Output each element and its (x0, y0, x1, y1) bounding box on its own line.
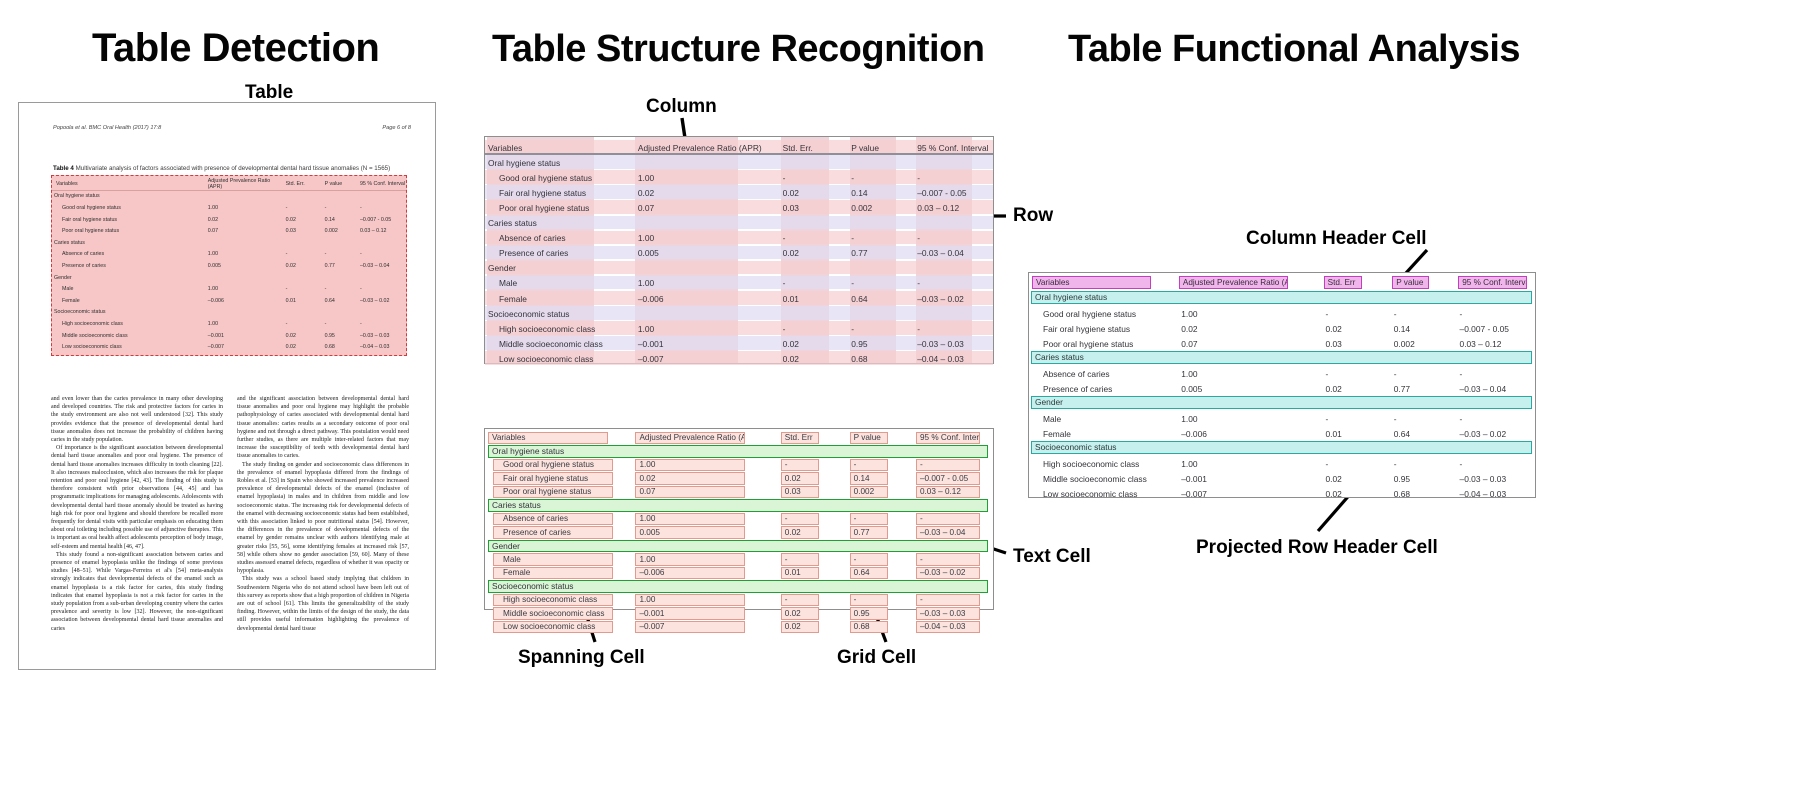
data-cell: –0.03 – 0.03 (914, 339, 993, 349)
table-row: Low socioeconomic class–0.0070.020.68–0.… (485, 351, 993, 366)
data-cell: –0.006 (208, 298, 286, 304)
data-cell: - (325, 205, 360, 211)
table-row: Poor oral hygiene status0.070.030.0020.0… (52, 225, 406, 237)
body-paragraph: The study finding on gender and socioeco… (237, 461, 409, 576)
table-caption: Table 4 Multivariate analysis of factors… (53, 165, 413, 172)
column-header-cell: 95 % Conf. Interval (916, 432, 980, 445)
row-label-cell: Middle socioeconomic class (485, 339, 635, 349)
data-cell: 0.64 (1391, 429, 1457, 439)
row-label-cell: Absence of caries (52, 251, 208, 257)
data-cell: 0.02 (1178, 324, 1322, 334)
grid-cell: - (916, 594, 980, 607)
data-cell: 0.64 (848, 294, 914, 304)
row-label-cell: Male (52, 286, 208, 292)
data-cell: –0.03 – 0.04 (1457, 384, 1535, 394)
column-header-cell: Adjusted Prevalence Ratio (APR) (208, 178, 286, 190)
data-cell: –0.04 – 0.03 (360, 344, 406, 350)
grid-cell: 0.02 (781, 526, 819, 539)
spanning-cell: Socioeconomic status (488, 580, 988, 593)
data-cell: 1.00 (635, 324, 780, 334)
table-row: High socioeconomic class1.00--- (52, 318, 406, 330)
data-cell: 1.00 (1178, 414, 1322, 424)
table-row: Middle socioeconomic class–0.0010.020.95… (1029, 471, 1535, 486)
table-row: Absence of caries1.00--- (1029, 366, 1535, 381)
data-cell: - (1322, 309, 1390, 319)
data-cell: 0.03 – 0.12 (1457, 339, 1535, 349)
running-head-right: Page 6 of 8 (382, 125, 411, 131)
row-label-cell: Middle socioeconomic class (52, 333, 208, 339)
table-row: Absence of caries1.00--- (52, 249, 406, 261)
data-cell: - (780, 278, 849, 288)
projected-row-header-cell: Socioeconomic status (1031, 441, 1532, 454)
table-row: Gender (52, 272, 406, 284)
data-cell: 1.00 (1178, 369, 1322, 379)
grid-cell: 1.00 (635, 594, 745, 607)
row-header-cell: Socioeconomic status (485, 309, 635, 319)
data-cell: - (1391, 459, 1457, 469)
table-row: Good oral hygiene status1.00--- (52, 202, 406, 214)
grid-cell: Low socioeconomic class (493, 621, 613, 634)
table-row: VariablesAdjusted Prevalence Ratio (APR)… (52, 178, 406, 191)
grid-cell: 0.64 (850, 567, 888, 580)
data-cell: 0.14 (325, 217, 360, 223)
row-label-cell: High socioeconomic class (52, 321, 208, 327)
data-cell: - (1457, 414, 1535, 424)
data-cell: 1.00 (1178, 309, 1322, 319)
data-cell: –0.006 (635, 294, 780, 304)
column-header-cell: Std. Err. (286, 181, 325, 187)
data-cell: 0.01 (780, 294, 849, 304)
projected-row-header-cell: Gender (1031, 396, 1532, 409)
data-cell: 1.00 (635, 173, 780, 183)
data-cell: –0.03 – 0.04 (914, 248, 993, 258)
data-cell: - (360, 321, 406, 327)
data-cell: 0.07 (208, 228, 286, 234)
row-label-cell: Gender (52, 275, 208, 281)
data-cell: 0.005 (1178, 384, 1322, 394)
data-cell: –0.006 (1178, 429, 1322, 439)
table-structure-cells: VariablesAdjusted Prevalence Ratio (APRS… (484, 428, 994, 610)
data-cell: - (1391, 369, 1457, 379)
grid-cell: 1.00 (635, 459, 745, 472)
row-label-cell: Low socioeconomic class (52, 344, 208, 350)
table-functional-analysis: VariablesAdjusted Prevalence Ratio (APRS… (1028, 272, 1536, 498)
projected-row-header-cell: Caries status (1031, 351, 1532, 364)
table-row: Male1.00--- (485, 276, 993, 291)
row-label-cell: Poor oral hygiene status (1029, 339, 1178, 349)
grid-cell: Male (493, 553, 613, 566)
data-cell: - (1322, 459, 1390, 469)
data-cell: –0.007 (208, 344, 286, 350)
table-row: Female–0.0060.010.64–0.03 – 0.02 (1029, 426, 1535, 441)
data-cell: –0.007 - 0.05 (360, 217, 406, 223)
column-header-cell: P value (1392, 276, 1429, 289)
grid-cell: Good oral hygiene status (493, 459, 613, 472)
grid-cell: High socioeconomic class (493, 594, 613, 607)
row-label-cell: Female (485, 294, 635, 304)
data-cell: - (780, 233, 849, 243)
row-label-cell: Low socioeconomic class (485, 354, 635, 364)
data-cell: - (286, 205, 325, 211)
row-header-cell: Caries status (485, 218, 635, 228)
data-cell: –0.03 – 0.04 (360, 263, 406, 269)
grid-cell: Female (493, 567, 613, 580)
data-cell: 0.01 (286, 298, 325, 304)
data-cell: - (914, 233, 993, 243)
table-caption-text: Multivariate analysis of factors associa… (76, 165, 391, 172)
table-row: Poor oral hygiene status0.070.030.0020.0… (485, 200, 993, 215)
table-row: Oral hygiene status (485, 155, 993, 170)
grid-cell: 0.02 (781, 472, 819, 485)
data-cell: 0.02 (1322, 489, 1390, 499)
column-header-cell: Variables (485, 143, 635, 153)
spanning-cell: Gender (488, 540, 988, 553)
grid-cell: –0.007 - 0.05 (916, 472, 980, 485)
column-header-cell: Std. Err (1324, 276, 1362, 289)
callout-text-cell: Text Cell (1013, 546, 1091, 568)
document-page: Popoola et al. BMC Oral Health (2017) 17… (18, 102, 436, 670)
data-cell: - (360, 286, 406, 292)
grid-cell: 0.02 (781, 607, 819, 620)
column-header-cell: Std. Err. (780, 143, 849, 153)
body-paragraph: This study found a non-significant assoc… (51, 551, 223, 633)
panel-title-table-detection: Table Detection (92, 26, 379, 71)
row-label-cell: High socioeconomic class (1029, 459, 1178, 469)
body-paragraph: and the significant association between … (237, 395, 409, 461)
data-cell: - (1457, 459, 1535, 469)
data-cell: –0.007 - 0.05 (1457, 324, 1535, 334)
data-cell: 0.02 (286, 263, 325, 269)
data-cell: –0.007 - 0.05 (914, 188, 993, 198)
data-cell: 0.02 (1322, 384, 1390, 394)
grid-cell: - (850, 459, 888, 472)
grid-cell: 0.03 (781, 486, 819, 499)
data-cell: 0.68 (325, 344, 360, 350)
grid-cell: 0.07 (635, 486, 745, 499)
data-cell: 0.03 (1322, 339, 1390, 349)
table-row: Presence of caries0.0050.020.77–0.03 – 0… (485, 246, 993, 261)
header-rule (485, 153, 993, 154)
grid-cell: –0.007 (635, 621, 745, 634)
data-cell: 0.02 (1322, 324, 1390, 334)
row-label-cell: Presence of caries (52, 263, 208, 269)
grid-cell: 0.95 (850, 607, 888, 620)
table-row: Fair oral hygiene status0.020.020.14–0.0… (485, 185, 993, 200)
callout-column-header-cell: Column Header Cell (1246, 228, 1427, 250)
data-cell: - (1457, 369, 1535, 379)
table-row: Fair oral hygiene status0.020.020.14–0.0… (1029, 321, 1535, 336)
data-cell: 1.00 (208, 321, 286, 327)
data-cell: - (914, 278, 993, 288)
row-label-cell: Fair oral hygiene status (1029, 324, 1178, 334)
column-header-cell: Adjusted Prevalence Ratio (APR (635, 432, 745, 445)
grid-cell: - (781, 594, 819, 607)
data-cell: - (848, 173, 914, 183)
data-cell: - (325, 251, 360, 257)
data-cell: 0.02 (780, 339, 849, 349)
data-cell: - (325, 321, 360, 327)
data-cell: 0.02 (1322, 474, 1390, 484)
grid-cell: 0.005 (635, 526, 745, 539)
data-cell: - (325, 286, 360, 292)
grid-cell: Poor oral hygiene status (493, 486, 613, 499)
table-row: Caries status (52, 237, 406, 249)
data-cell: 0.95 (325, 333, 360, 339)
data-cell: 0.005 (208, 263, 286, 269)
table-row: Poor oral hygiene status0.070.030.0020.0… (1029, 336, 1535, 351)
grid-cell: Middle socioeconomic class (493, 607, 613, 620)
data-cell: 0.03 (286, 228, 325, 234)
table-row: Socioeconomic status (485, 306, 993, 321)
spanning-cell: Oral hygiene status (488, 445, 988, 458)
document-running-head: Popoola et al. BMC Oral Health (2017) 17… (53, 125, 411, 131)
data-cell: - (914, 173, 993, 183)
data-cell: 0.95 (848, 339, 914, 349)
grid-cell: - (781, 513, 819, 526)
data-cell: –0.03 – 0.02 (1457, 429, 1535, 439)
data-cell: - (286, 286, 325, 292)
data-cell: - (1391, 309, 1457, 319)
row-label-cell: Caries status (52, 240, 208, 246)
data-cell: 1.00 (208, 205, 286, 211)
grid-cell: –0.03 – 0.03 (916, 607, 980, 620)
data-cell: 0.002 (1391, 339, 1457, 349)
data-cell: - (286, 251, 325, 257)
grid-cell: Presence of caries (493, 526, 613, 539)
data-cell: 0.02 (286, 217, 325, 223)
row-label-cell: Oral hygiene status (52, 193, 208, 199)
data-cell: - (914, 324, 993, 334)
grid-cell: 0.01 (781, 567, 819, 580)
column-header-cell: P value (325, 181, 360, 187)
table-row: Absence of caries1.00--- (485, 231, 993, 246)
grid-cell: - (850, 513, 888, 526)
row-label-cell: Good oral hygiene status (1029, 309, 1178, 319)
callout-projected-row-header-cell: Projected Row Header Cell (1196, 537, 1438, 559)
grid-cell: –0.001 (635, 607, 745, 620)
data-cell: 0.002 (848, 203, 914, 213)
panel-title-table-functional-analysis: Table Functional Analysis (1068, 28, 1520, 71)
data-cell: 0.02 (286, 333, 325, 339)
row-label-cell: Fair oral hygiene status (52, 217, 208, 223)
row-label-cell: Socioeconomic status (52, 309, 208, 315)
data-cell: 0.95 (1391, 474, 1457, 484)
grid-cell: –0.04 – 0.03 (916, 621, 980, 634)
grid-cell: –0.03 – 0.02 (916, 567, 980, 580)
data-cell: 0.002 (325, 228, 360, 234)
grid-cell: - (916, 513, 980, 526)
data-cell: 1.00 (208, 251, 286, 257)
grid-cell: - (916, 459, 980, 472)
row-label-cell: Presence of caries (1029, 384, 1178, 394)
row-label-cell: Poor oral hygiene status (52, 228, 208, 234)
column-header-cell: Variables (488, 432, 608, 445)
data-cell: –0.03 – 0.03 (1457, 474, 1535, 484)
data-cell: - (1322, 414, 1390, 424)
grid-cell: 1.00 (635, 513, 745, 526)
data-cell: - (1322, 369, 1390, 379)
row-header-cell: Gender (485, 263, 635, 273)
body-paragraph: and even lower than the caries prevalenc… (51, 395, 223, 444)
callout-spanning-cell: Spanning Cell (518, 647, 645, 669)
grid-cell: 0.02 (781, 621, 819, 634)
spanning-cell: Caries status (488, 499, 988, 512)
data-cell: 0.77 (1391, 384, 1457, 394)
table-caption-label: Table 4 (53, 165, 74, 172)
grid-cell: 1.00 (635, 553, 745, 566)
table-row: Middle socioeconomic class–0.0010.020.95… (485, 336, 993, 351)
row-label-cell: Female (1029, 429, 1178, 439)
data-cell: 0.03 (780, 203, 849, 213)
row-label-cell: Male (1029, 414, 1178, 424)
data-cell: 0.07 (635, 203, 780, 213)
row-label-cell: Middle socioeconomic class (1029, 474, 1178, 484)
document-column-left: and even lower than the caries prevalenc… (51, 395, 223, 633)
running-head-left: Popoola et al. BMC Oral Health (2017) 17… (53, 125, 161, 131)
row-label-cell: Good oral hygiene status (52, 205, 208, 211)
row-header-cell: Oral hygiene status (485, 158, 635, 168)
callout-column: Column (646, 96, 717, 118)
column-header-cell: Adjusted Prevalence Ratio (APR (1179, 276, 1288, 289)
detected-table-region: VariablesAdjusted Prevalence Ratio (APR)… (51, 175, 407, 356)
row-label-cell: Presence of caries (485, 248, 635, 258)
data-cell: - (360, 251, 406, 257)
row-label-cell: Absence of caries (1029, 369, 1178, 379)
data-cell: 0.02 (780, 354, 849, 364)
data-cell: - (286, 321, 325, 327)
grid-cell: - (850, 553, 888, 566)
column-header-cell: 95 % Conf. Interval (1458, 276, 1527, 289)
row-label-cell: Good oral hygiene status (485, 173, 635, 183)
table-row: Female–0.0060.010.64–0.03 – 0.02 (52, 295, 406, 307)
projected-row-header-cell: Oral hygiene status (1031, 291, 1532, 304)
data-cell: 0.68 (1391, 489, 1457, 499)
data-cell: 0.01 (1322, 429, 1390, 439)
column-header-cell: 95 % Conf. Interval (914, 143, 993, 153)
table-row: Male1.00--- (52, 283, 406, 295)
document-column-right: and the significant association between … (237, 395, 409, 633)
row-label-cell: Fair oral hygiene status (485, 188, 635, 198)
data-cell: –0.04 – 0.03 (914, 354, 993, 364)
data-cell: 1.00 (208, 286, 286, 292)
grid-cell: 0.002 (850, 486, 888, 499)
table-row: Presence of caries0.0050.020.77–0.03 – 0… (52, 260, 406, 272)
column-header-cell: P value (848, 143, 914, 153)
column-header-cell: Variables (52, 181, 208, 187)
panel-title-table-structure-recognition: Table Structure Recognition (492, 28, 985, 71)
callout-grid-cell: Grid Cell (837, 647, 916, 669)
row-label-cell: High socioeconomic class (485, 324, 635, 334)
grid-cell: 0.14 (850, 472, 888, 485)
data-cell: –0.03 – 0.03 (360, 333, 406, 339)
data-cell: 0.14 (1391, 324, 1457, 334)
data-cell: - (1457, 309, 1535, 319)
table-row: Socioeconomic status (52, 307, 406, 319)
grid-cell: Fair oral hygiene status (493, 472, 613, 485)
data-cell: –0.03 – 0.02 (360, 298, 406, 304)
column-header-cell: 95 % Conf. Interval (360, 181, 406, 187)
data-cell: –0.007 (1178, 489, 1322, 499)
data-cell: 0.03 – 0.12 (360, 228, 406, 234)
table-row: Female–0.0060.010.64–0.03 – 0.02 (485, 291, 993, 306)
callout-table: Table (245, 82, 293, 104)
data-cell: 1.00 (1178, 459, 1322, 469)
data-cell: - (848, 324, 914, 334)
table-row: Good oral hygiene status1.00--- (1029, 306, 1535, 321)
table-row: Presence of caries0.0050.020.77–0.03 – 0… (1029, 381, 1535, 396)
data-cell: - (780, 173, 849, 183)
data-cell: 0.64 (325, 298, 360, 304)
table-row: Low socioeconomic class–0.0070.020.68–0.… (1029, 486, 1535, 501)
table-row: Good oral hygiene status1.00--- (485, 170, 993, 185)
data-cell: –0.007 (635, 354, 780, 364)
data-cell: –0.001 (208, 333, 286, 339)
data-cell: 0.02 (286, 344, 325, 350)
grid-cell: 0.03 – 0.12 (916, 486, 980, 499)
table-row: Oral hygiene status (52, 191, 406, 203)
data-cell: –0.001 (1178, 474, 1322, 484)
row-label-cell: Low socioeconomic class (1029, 489, 1178, 499)
grid-cell: –0.006 (635, 567, 745, 580)
grid-cell: 0.02 (635, 472, 745, 485)
document-body-text: and even lower than the caries prevalenc… (51, 395, 409, 633)
grid-cell: - (916, 553, 980, 566)
data-cell: 0.77 (848, 248, 914, 258)
table-row: High socioeconomic class1.00--- (1029, 456, 1535, 471)
row-label-cell: Absence of caries (485, 233, 635, 243)
data-cell: 0.14 (848, 188, 914, 198)
data-cell: 1.00 (635, 278, 780, 288)
grid-cell: - (781, 553, 819, 566)
data-cell: 0.02 (635, 188, 780, 198)
table-row: Fair oral hygiene status0.020.020.14–0.0… (52, 214, 406, 226)
data-cell: –0.03 – 0.02 (914, 294, 993, 304)
table-row: Low socioeconomic class–0.0070.020.68–0.… (52, 341, 406, 353)
table-row: Male1.00--- (1029, 411, 1535, 426)
data-cell: 0.02 (208, 217, 286, 223)
data-cell: –0.001 (635, 339, 780, 349)
data-cell: 0.03 – 0.12 (914, 203, 993, 213)
table-row: Caries status (485, 216, 993, 231)
data-cell: 0.77 (325, 263, 360, 269)
data-cell: - (848, 233, 914, 243)
table-structure-rows-columns: VariablesAdjusted Prevalence Ratio (APR)… (484, 136, 994, 364)
table-row: Middle socioeconomic class–0.0010.020.95… (52, 330, 406, 342)
table-row: Gender (485, 261, 993, 276)
row-label-cell: Poor oral hygiene status (485, 203, 635, 213)
data-cell: - (360, 205, 406, 211)
column-header-cell: P value (850, 432, 888, 445)
body-paragraph: This study was a school based study impl… (237, 575, 409, 632)
row-label-cell: Male (485, 278, 635, 288)
column-header-cell: Variables (1032, 276, 1151, 289)
body-paragraph: Of importance is the significant associa… (51, 444, 223, 551)
column-header-cell: Adjusted Prevalence Ratio (APR) (635, 143, 780, 153)
data-cell: - (1391, 414, 1457, 424)
grid-cell: - (850, 594, 888, 607)
data-cell: 0.02 (780, 248, 849, 258)
callout-row: Row (1013, 205, 1053, 227)
data-cell: –0.04 – 0.03 (1457, 489, 1535, 499)
grid-cell: 0.68 (850, 621, 888, 634)
data-cell: 0.07 (1178, 339, 1322, 349)
table-row: High socioeconomic class1.00--- (485, 321, 993, 336)
grid-cell: –0.03 – 0.04 (916, 526, 980, 539)
grid-cell: - (781, 459, 819, 472)
data-cell: 1.00 (635, 233, 780, 243)
grid-cell: 0.77 (850, 526, 888, 539)
data-cell: 0.02 (780, 188, 849, 198)
